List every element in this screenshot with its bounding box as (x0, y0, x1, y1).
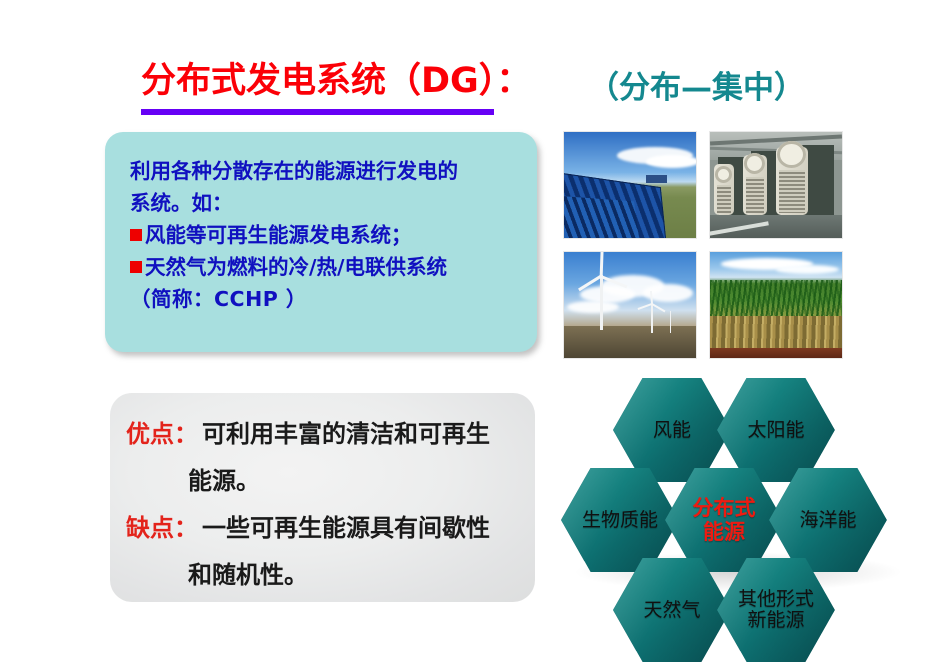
definition-line-1: 利用各种分散存在的能源进行发电的 (130, 155, 530, 187)
pros-line-1: 可利用丰富的清洁和可再生 (202, 410, 490, 457)
ground-shape (564, 326, 696, 358)
hex-cell-label: 风能 (653, 420, 691, 441)
pros-cons-text: 优点： 可利用丰富的清洁和可再生 能源。 缺点： 一些可再生能源具有间歇性 和随… (126, 410, 526, 598)
bullet-square-icon (130, 229, 142, 241)
definition-tail: （简称：CCHP ） (130, 283, 530, 315)
floor-shape (710, 215, 842, 238)
coil-shape (717, 185, 732, 213)
turbine-blade-shape (600, 252, 604, 277)
hex-cell-label: 生物质能 (582, 510, 658, 531)
definition-bullet-2: 天然气为燃料的冷/热/电联供系统 (130, 251, 530, 283)
wind-turbine-photo (563, 251, 697, 359)
cane-stalks-shape (710, 316, 842, 350)
definition-line-2: 系统。如： (130, 187, 530, 219)
solar-farm-photo (563, 131, 697, 239)
definition-bullet-1: 风能等可再生能源发电系统； (130, 219, 530, 251)
photo-grid (563, 131, 843, 357)
turbine-mast-shape (670, 311, 672, 332)
page-subtitle: （分布—集中） (588, 62, 805, 107)
hex-cell-label: 其他形式新能源 (738, 589, 814, 631)
hex-cell-label: 海洋能 (799, 510, 856, 531)
cons-label: 缺点： (126, 504, 198, 551)
coil-shape (779, 170, 805, 212)
turbine-mast-shape (600, 275, 603, 330)
soil-shape (710, 348, 842, 358)
pros-row: 优点： 可利用丰富的清洁和可再生 (126, 410, 526, 457)
definition-bullet-2-label: 天然气为燃料的冷/热/电联供系统 (145, 251, 447, 283)
gas-equipment-photo (709, 131, 843, 239)
hex-cell-label: 天然气 (643, 600, 700, 621)
coil-shape (746, 177, 764, 213)
hex-cell-wind: 风能 (613, 378, 731, 482)
cloud-shape (646, 155, 697, 168)
cloud-shape (776, 265, 839, 275)
cons-row: 缺点： 一些可再生能源具有间歇性 (126, 504, 526, 551)
hex-cell-label: 分布式能源 (693, 496, 756, 544)
building-shape (646, 175, 667, 182)
cons-line-2: 和随机性。 (188, 551, 526, 598)
turbine-mast-shape (651, 303, 653, 333)
distributed-energy-hex-diagram: 风能太阳能生物质能分布式能源海洋能天然气其他形式新能源 (553, 372, 943, 612)
cons-line-1: 一些可再生能源具有间歇性 (202, 504, 490, 551)
definition-text: 利用各种分散存在的能源进行发电的 系统。如： 风能等可再生能源发电系统； 天然气… (130, 155, 530, 315)
page-title: 分布式发电系统（DG）： (141, 52, 531, 103)
sugarcane-field-photo (709, 251, 843, 359)
cloud-shape (567, 301, 620, 314)
hex-cell-solar: 太阳能 (717, 378, 835, 482)
slide-canvas: 分布式发电系统（DG）： （分布—集中） 利用各种分散存在的能源进行发电的 系统… (0, 0, 950, 672)
pros-label: 优点： (126, 410, 198, 457)
pros-line-2: 能源。 (188, 457, 526, 504)
hex-cell-label: 太阳能 (747, 420, 804, 441)
definition-bullet-1-label: 风能等可再生能源发电系统； (145, 219, 412, 251)
turbine-blade-shape (651, 303, 665, 312)
bullet-square-icon (130, 261, 142, 273)
title-underline-rule (141, 109, 494, 115)
